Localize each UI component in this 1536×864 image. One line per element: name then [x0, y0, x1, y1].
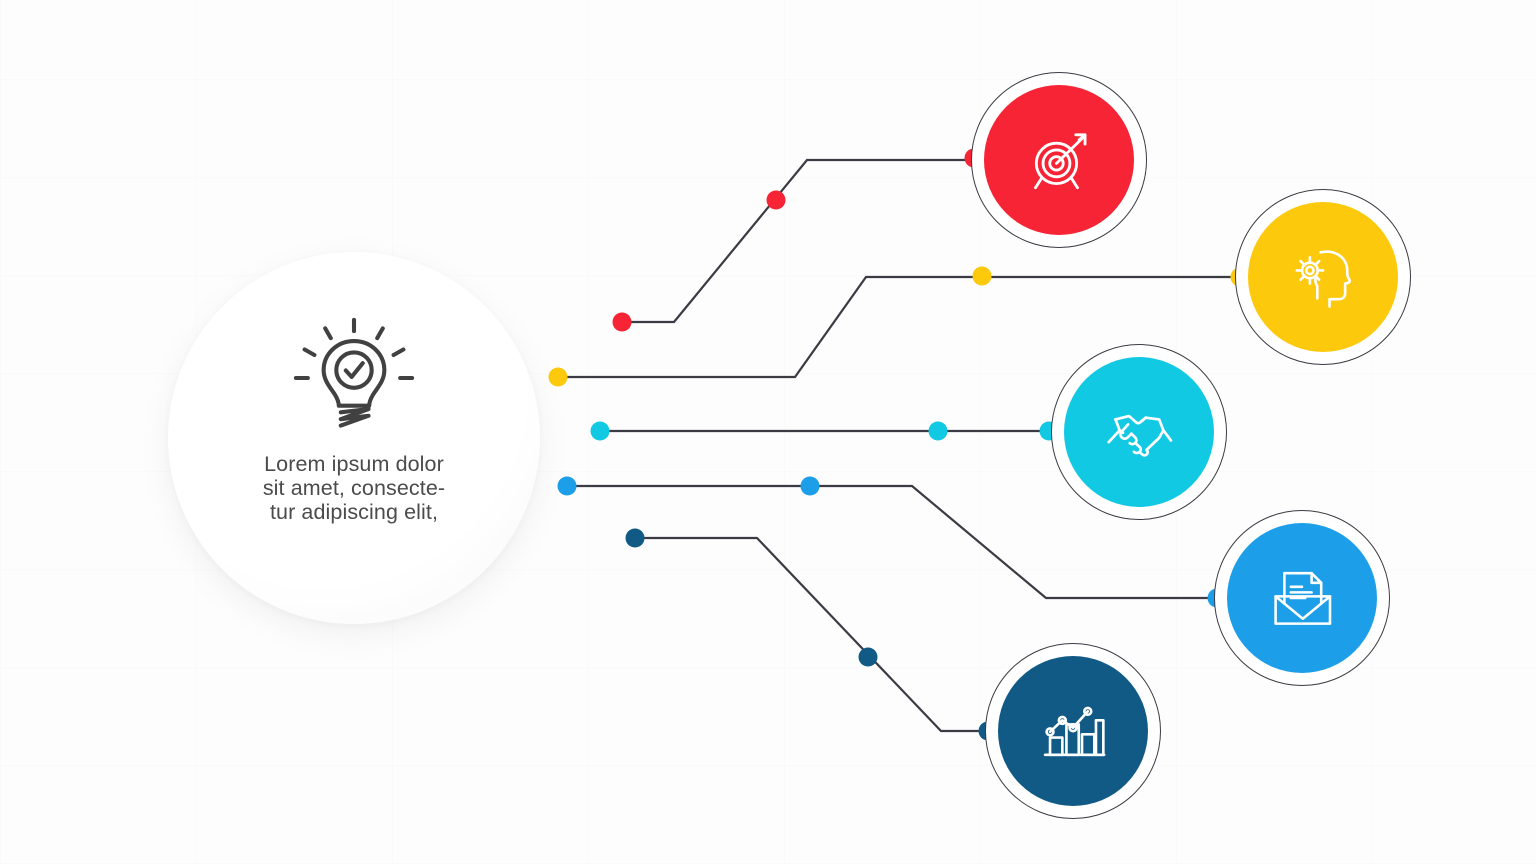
connector-dot-analytics-1 — [626, 529, 645, 548]
partnership-node[interactable] — [1051, 344, 1227, 520]
hub-description: Lorem ipsum dolor sit amet, consecte- tu… — [239, 452, 469, 524]
partnership-color-disc[interactable] — [1064, 357, 1214, 507]
connector-dot-target-2 — [767, 191, 786, 210]
target-color-disc[interactable] — [984, 85, 1134, 235]
lightbulb-check-icon — [288, 312, 420, 444]
connector-line-analytics — [635, 538, 988, 731]
connector-dot-target-1 — [613, 313, 632, 332]
analytics-color-disc[interactable] — [998, 656, 1148, 806]
target-arrow-icon — [1017, 118, 1101, 202]
target-node[interactable] — [971, 72, 1147, 248]
connector-dot-mail-2 — [801, 477, 820, 496]
connector-dot-mail-1 — [558, 477, 577, 496]
central-hub[interactable]: Lorem ipsum dolor sit amet, consecte- tu… — [168, 252, 540, 624]
connector-dot-mind-2 — [973, 267, 992, 286]
bar-chart-growth-icon — [1032, 690, 1114, 772]
connector-line-target — [622, 160, 974, 322]
analytics-node[interactable] — [985, 643, 1161, 819]
head-gear-icon — [1282, 236, 1364, 318]
envelope-document-icon — [1262, 558, 1342, 638]
handshake-icon — [1097, 390, 1181, 474]
mind-node[interactable] — [1235, 189, 1411, 365]
connector-dot-partnership-1 — [591, 422, 610, 441]
connector-dot-mind-1 — [549, 368, 568, 387]
mail-color-disc[interactable] — [1227, 523, 1377, 673]
mail-node[interactable] — [1214, 510, 1390, 686]
mind-color-disc[interactable] — [1248, 202, 1398, 352]
infographic-canvas: Lorem ipsum dolor sit amet, consecte- tu… — [0, 0, 1536, 864]
connector-dot-partnership-2 — [929, 422, 948, 441]
connector-dot-analytics-2 — [859, 648, 878, 667]
